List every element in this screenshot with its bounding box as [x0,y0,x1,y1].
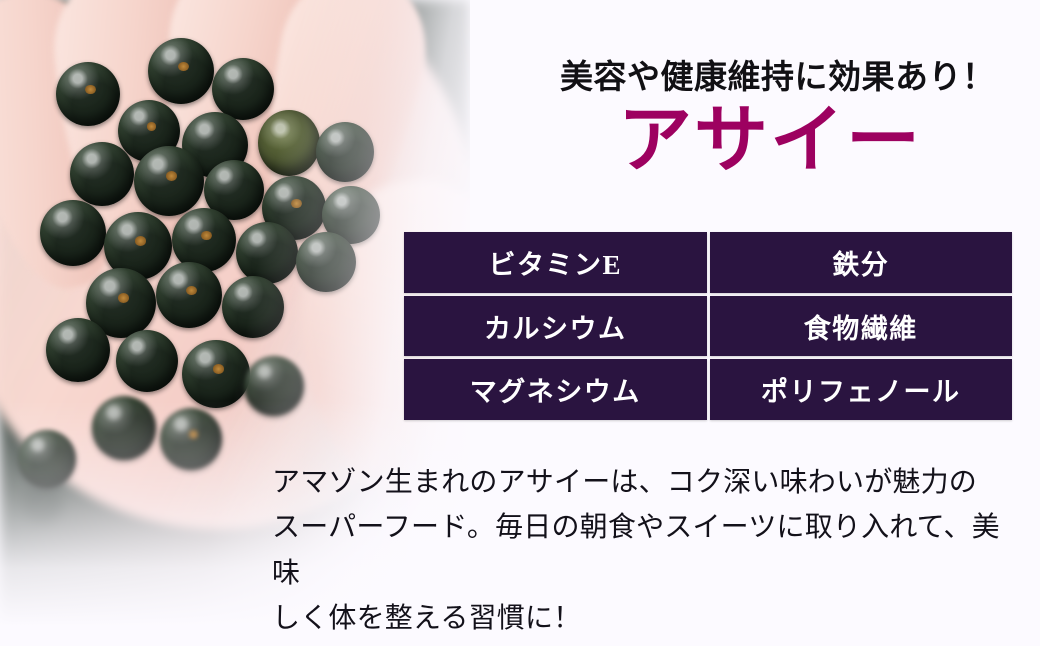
table-row: ビタミンE 鉄分 [404,232,1012,293]
acai-berry [56,62,120,126]
nutrient-cell-magnesium: マグネシウム [404,359,707,420]
acai-berry [316,122,374,182]
nutrient-table: ビタミンE 鉄分 カルシウム 食物繊維 マグネシウム ポリフェノール [404,232,1012,420]
acai-berry [236,222,298,284]
acai-berry [92,396,156,460]
acai-berry [148,38,214,104]
acai-berry [18,430,76,488]
nutrient-cell-vitamin-e: ビタミンE [404,232,707,293]
table-row: マグネシウム ポリフェノール [404,359,1012,420]
description-line-2: スーパーフード。毎日の朝食やスイーツに取り入れて、美味 [272,505,1022,596]
nutrient-cell-dietary-fiber: 食物繊維 [710,296,1013,357]
acai-berry [258,110,320,176]
headline: 美容や健康維持に効果あり！ [560,50,980,98]
acai-berry [212,58,274,120]
acai-berry [134,146,204,216]
acai-berry [40,200,106,266]
acai-berry [46,318,110,382]
nutrient-cell-iron: 鉄分 [710,232,1013,293]
acai-berry [296,232,356,292]
description-line-3: しく体を整える習慣に！ [272,596,1022,641]
acai-berry [116,330,178,392]
acai-berry [70,142,134,206]
nutrient-cell-polyphenol: ポリフェノール [710,359,1013,420]
table-row: カルシウム 食物繊維 [404,296,1012,357]
description-line-1: アマゾン生まれのアサイーは、コク深い味わいが魅力の [272,460,1022,505]
page-title: アサイー [560,100,980,183]
acai-berry [222,276,284,338]
acai-berry [244,356,304,416]
acai-berry [182,340,250,408]
acai-berry [156,262,222,328]
description-text: アマゾン生まれのアサイーは、コク深い味わいが魅力の スーパーフード。毎日の朝食や… [272,460,1022,641]
nutrient-cell-calcium: カルシウム [404,296,707,357]
acai-promo-poster: 美容や健康維持に効果あり！ アサイー ビタミンE 鉄分 カルシウム 食物繊維 マ… [0,0,1040,646]
acai-berry [160,408,222,470]
